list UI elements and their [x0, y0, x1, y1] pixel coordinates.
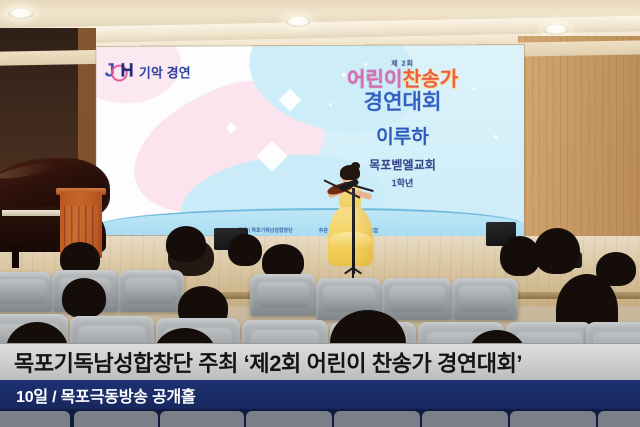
theater-seat [598, 411, 640, 427]
theater-seat [334, 411, 420, 427]
screen-title-eorini: 어린이 [347, 69, 402, 91]
broadcast-screenshot: J H 기악 경연 제 2회 어린이찬송가 경연대회 이루하 목포벧엘교회 1학… [0, 0, 640, 427]
theater-seat [160, 411, 244, 427]
theater-seat [118, 270, 184, 312]
lower-third-graphic: 목포기독남성합창단 주최 ‘제2회 어린이 찬송가 경연대회’ 10일 / 목포… [0, 343, 640, 427]
logo-wordmark: 기악 경연 [139, 62, 191, 81]
screen-performer-name: 이루하 [295, 122, 511, 149]
downlight-icon [543, 24, 569, 35]
logo-letter-h: H [120, 62, 133, 81]
audience-head [228, 234, 262, 266]
theater-seat [422, 411, 508, 427]
downlight-icon [285, 16, 311, 27]
projection-screen: J H 기악 경연 제 2회 어린이찬송가 경연대회 이루하 목포벧엘교회 1학… [96, 45, 524, 237]
audience-head [534, 228, 580, 274]
theater-seat [452, 278, 518, 320]
theater-seat [74, 411, 158, 427]
theater-seat [0, 272, 52, 312]
screen-title-chansongga: 찬송가 [403, 69, 459, 91]
audience-head [166, 226, 206, 262]
theater-seat [246, 411, 332, 427]
jch-logo: J H 기악 경연 [105, 62, 191, 82]
downlight-icon [8, 8, 34, 19]
headline-text: 목포기독남성합창단 주최 ‘제2회 어린이 찬송가 경연대회’ [14, 346, 522, 378]
screen-title-line1: 어린이찬송가 [295, 70, 511, 91]
theater-seat [250, 274, 316, 316]
subline-text: 10일 / 목포극동방송 공개홀 [16, 383, 196, 407]
bottom-video-strip [0, 409, 640, 427]
screen-title-line2: 경연대회 [295, 91, 511, 114]
headline-bar: 목포기독남성합창단 주최 ‘제2회 어린이 찬송가 경연대회’ [0, 343, 640, 380]
performer-dress-ruffle [329, 232, 372, 248]
audience-head [62, 278, 106, 318]
theater-seat [510, 411, 596, 427]
theater-seat [0, 411, 70, 427]
jch-monogram-icon: J H [105, 62, 134, 82]
theater-seat [382, 278, 452, 320]
performer-hair-bun [351, 162, 360, 170]
subline-bar: 10일 / 목포극동방송 공개홀 [0, 380, 640, 409]
